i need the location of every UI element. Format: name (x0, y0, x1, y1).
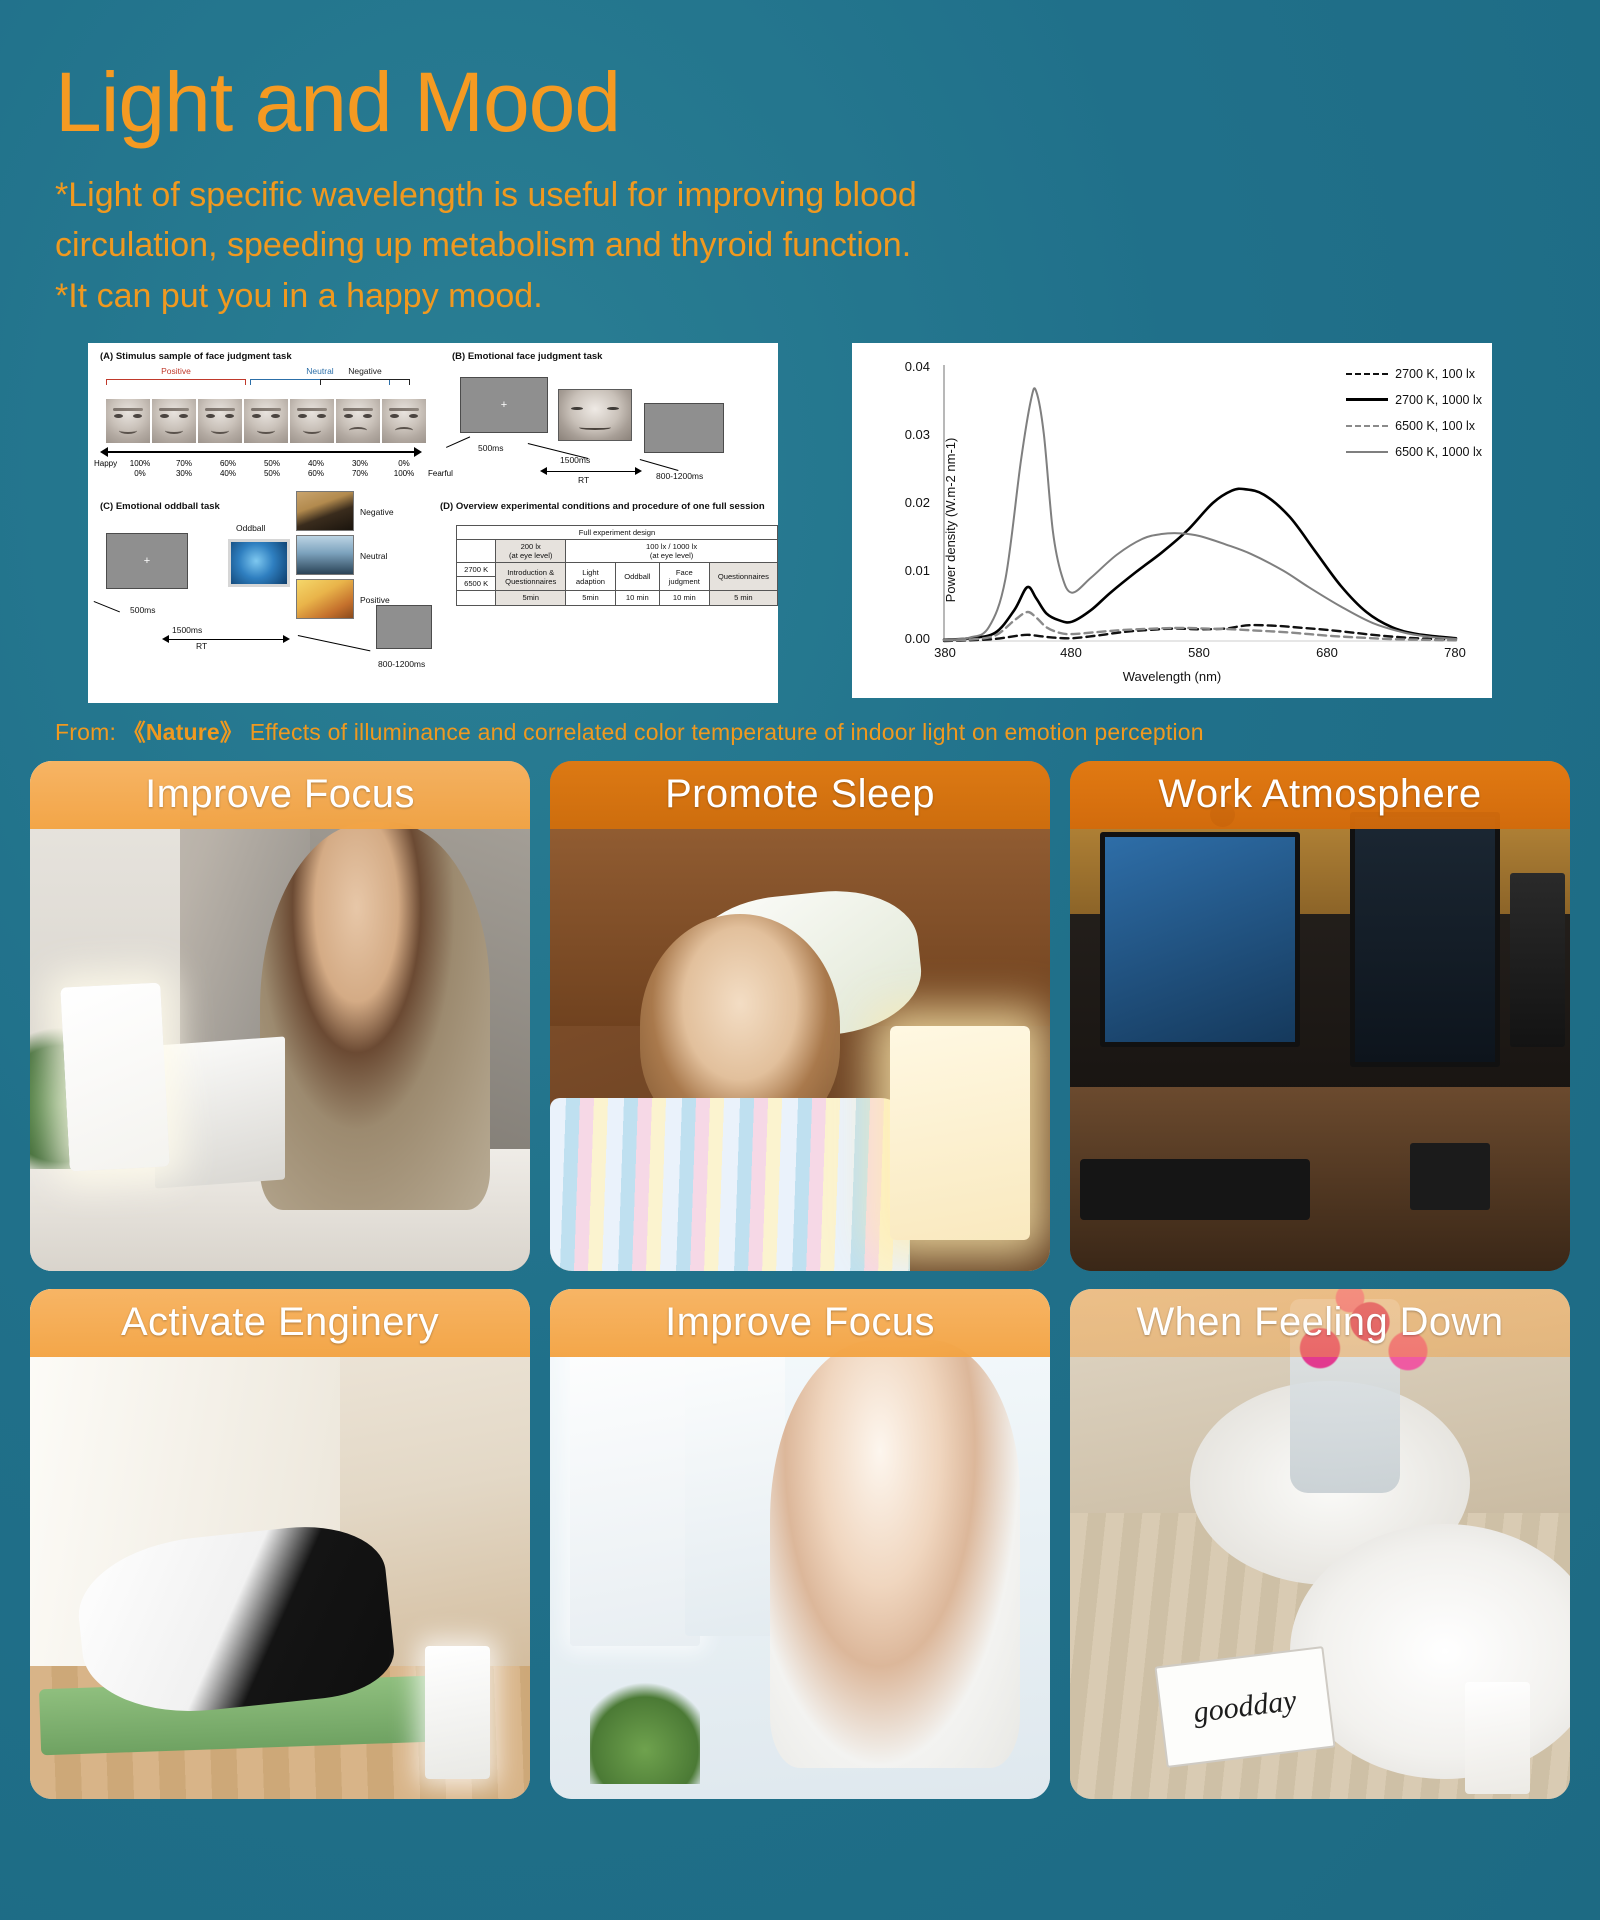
panel-c-timing-500ms: 500ms (130, 605, 156, 615)
panel-c-heading: (C) Emotional oddball task (100, 501, 220, 512)
legend-swatch-dashed-gray (1346, 425, 1388, 427)
card-photo: goodday (1070, 1289, 1570, 1799)
fearful-pct: 0% (118, 469, 162, 479)
card-promote-sleep[interactable]: Promote Sleep (550, 761, 1050, 1271)
card-photo (550, 761, 1050, 1271)
card-work-atmosphere[interactable]: Work Atmosphere (1070, 761, 1570, 1271)
face-stimulus (198, 399, 242, 443)
panel-b-timing-500ms: 500ms (478, 443, 504, 453)
card-photo (30, 761, 530, 1271)
subtitle-line-1: *Light of specific wavelength is useful … (55, 170, 1235, 220)
blank-response-box (644, 403, 724, 453)
legend-label: 6500 K, 1000 lx (1395, 445, 1482, 459)
connector-line (298, 635, 371, 652)
source-caption: From: 《Nature》 Effects of illuminance an… (0, 703, 1600, 747)
face-stimulus (152, 399, 196, 443)
panel-c-rt-arrow (162, 635, 290, 644)
panel-b-timing-800-1200ms: 800-1200ms (656, 471, 703, 481)
x-tick: 580 (1176, 645, 1222, 660)
duration-introduction: 5min (496, 591, 566, 605)
experiment-figure-panel: (A) Stimulus sample of face judgment tas… (88, 343, 778, 703)
panel-b-timing-1500ms: 1500ms (560, 455, 590, 465)
card-when-feeling-down[interactable]: goodday When Feeling Down (1070, 1289, 1570, 1799)
pct-cell: 60% 40% (206, 459, 250, 479)
fearful-pct: 40% (206, 469, 250, 479)
stage-light-adaption: Light adaption (566, 563, 616, 591)
panel-b-rt-arrow (540, 467, 642, 476)
face-stimulus-box (558, 389, 632, 441)
face-stimulus (290, 399, 334, 443)
card-title: Work Atmosphere (1070, 761, 1570, 829)
card-photo (550, 1289, 1050, 1799)
legend-item: 6500 K, 100 lx (1346, 413, 1482, 439)
cct-2700k: 2700 K (457, 563, 495, 577)
fixation-cross-box: + (106, 533, 188, 589)
pct-cell: 0% 100% (382, 459, 426, 479)
card-improve-focus-bathroom[interactable]: Improve Focus (550, 1289, 1050, 1799)
illuminance-200lx: 200 lx (at eye level) (496, 540, 566, 563)
face-stimulus (106, 399, 150, 443)
fearful-pct: 100% (382, 469, 426, 479)
happy-pct: 30% (338, 459, 382, 469)
panel-a-axis-label-happy: Happy (94, 459, 117, 468)
caption-text: Effects of illuminance and correlated co… (250, 719, 1204, 745)
page-header: Light and Mood *Light of specific wavele… (0, 0, 1600, 321)
table-row: 200 lx (at eye level) 100 lx / 1000 lx (… (457, 540, 778, 563)
face-stimulus (336, 399, 380, 443)
legend-swatch-solid-gray (1346, 451, 1388, 453)
duration-questionnaires: 5 min (709, 591, 777, 605)
table-title-cell: Full experiment design (457, 525, 778, 539)
card-improve-focus-office[interactable]: Improve Focus (30, 761, 530, 1271)
panel-c-label-positive: Positive (360, 595, 390, 605)
card-title: When Feeling Down (1070, 1289, 1570, 1357)
cct-6500k: 6500 K (457, 577, 495, 590)
card-title: Activate Enginery (30, 1289, 530, 1357)
legend-item: 6500 K, 1000 lx (1346, 439, 1482, 465)
face-stimulus (244, 399, 288, 443)
panel-a-axis-label-fearful: Fearful (428, 469, 453, 478)
image-positive (296, 579, 354, 619)
stage-introduction: Introduction & Questionnaires (496, 563, 566, 591)
fearful-pct: 30% (162, 469, 206, 479)
connector-line (93, 601, 119, 613)
illuminance-100-1000lx: 100 lx / 1000 lx (at eye level) (566, 540, 778, 563)
chart-legend: 2700 K, 100 lx 2700 K, 1000 lx 6500 K, 1… (1346, 361, 1482, 465)
card-activate-enginery[interactable]: Activate Enginery (30, 1289, 530, 1799)
connector-line (446, 436, 470, 448)
x-tick: 780 (1432, 645, 1478, 660)
empty-cell (457, 540, 496, 563)
panel-c-label-neutral: Neutral (360, 551, 387, 561)
x-tick: 480 (1048, 645, 1094, 660)
stage-oddball: Oddball (615, 563, 659, 591)
subtitle-line-3: *It can put you in a happy mood. (55, 271, 1235, 321)
legend-label: 6500 K, 100 lx (1395, 419, 1475, 433)
legend-swatch-dashed-black (1346, 373, 1388, 375)
table-row: Full experiment design (457, 525, 778, 539)
table-row: 5min 5min 10 min 10 min 5 min (457, 591, 778, 605)
card-title: Promote Sleep (550, 761, 1050, 829)
panel-b-rt-label: RT (578, 475, 589, 485)
fearful-pct: 70% (338, 469, 382, 479)
panel-d-heading: (D) Overview experimental conditions and… (440, 501, 765, 512)
spectral-chart: Power density (W.m-2 nm-1) 0.04 0.03 0.0… (852, 343, 1492, 698)
duration-light-adaption: 5min (566, 591, 616, 605)
panel-a-happy-pcts: 100% 0% 70% 30% 60% 40% 50% 50% 40% 60% … (118, 459, 426, 479)
empty-cell (457, 591, 496, 605)
duration-oddball: 10 min (615, 591, 659, 605)
panel-a-axis-arrow (100, 447, 422, 457)
face-stimulus (382, 399, 426, 443)
series-2700-k-1000-lx (944, 489, 1456, 640)
connector-line (640, 459, 679, 471)
legend-label: 2700 K, 100 lx (1395, 367, 1475, 381)
legend-item: 2700 K, 1000 lx (1346, 387, 1482, 413)
sign-text: goodday (1192, 1684, 1299, 1730)
pct-cell: 70% 30% (162, 459, 206, 479)
happy-pct: 50% (250, 459, 294, 469)
image-neutral (296, 535, 354, 575)
experiment-design-table: Full experiment design 200 lx (at eye le… (456, 525, 778, 606)
figure-row: (A) Stimulus sample of face judgment tas… (0, 343, 1600, 703)
page-title: Light and Mood (55, 60, 1600, 144)
panel-c-timing-1500ms: 1500ms (172, 625, 202, 635)
panel-c-label-negative: Negative (360, 507, 394, 517)
panel-b-heading: (B) Emotional face judgment task (452, 351, 602, 362)
spectral-power-chart-panel: Power density (W.m-2 nm-1) 0.04 0.03 0.0… (852, 343, 1492, 698)
chart-x-axis-label: Wavelength (nm) (852, 669, 1492, 684)
panel-a-face-strip (106, 399, 426, 443)
blank-response-box (376, 605, 432, 649)
image-negative (296, 491, 354, 531)
pct-cell: 100% 0% (118, 459, 162, 479)
stage-face-judgment: Face judgment (659, 563, 709, 591)
card-title: Improve Focus (550, 1289, 1050, 1357)
pct-cell: 30% 70% (338, 459, 382, 479)
page-subtitle: *Light of specific wavelength is useful … (55, 170, 1235, 321)
duration-face-judgment: 10 min (659, 591, 709, 605)
goodday-sign: goodday (1154, 1646, 1335, 1768)
caption-prefix: From: (55, 719, 116, 745)
panel-a-heading: (A) Stimulus sample of face judgment tas… (100, 351, 292, 362)
happy-pct: 70% (162, 459, 206, 469)
stage-questionnaires: Questionnaires (709, 563, 777, 591)
card-title: Improve Focus (30, 761, 530, 829)
card-photo (1070, 761, 1570, 1271)
table-row: 2700 K 6500 K Introduction & Questionnai… (457, 563, 778, 591)
oddball-image (228, 539, 290, 587)
happy-pct: 40% (294, 459, 338, 469)
caption-journal: 《Nature》 (123, 719, 243, 745)
pct-cell: 50% 50% (250, 459, 294, 479)
fixation-cross-box: + (460, 377, 548, 433)
x-tick: 680 (1304, 645, 1350, 660)
cct-cell: 2700 K 6500 K (457, 563, 496, 591)
happy-pct: 60% (206, 459, 250, 469)
pct-cell: 40% 60% (294, 459, 338, 479)
panel-a-group-positive: Positive (106, 377, 246, 389)
x-tick: 380 (922, 645, 968, 660)
legend-swatch-solid-black (1346, 398, 1388, 401)
legend-label: 2700 K, 1000 lx (1395, 393, 1482, 407)
legend-item: 2700 K, 100 lx (1346, 361, 1482, 387)
fearful-pct: 60% (294, 469, 338, 479)
benefit-card-grid: Improve Focus Promote Sleep Work Atmosph… (30, 761, 1570, 1799)
happy-pct: 100% (118, 459, 162, 469)
group-label-positive: Positive (106, 366, 246, 376)
panel-a-group-negative: Negative (320, 377, 410, 389)
card-photo (30, 1289, 530, 1799)
happy-pct: 0% (382, 459, 426, 469)
subtitle-line-2: circulation, speeding up metabolism and … (55, 220, 1235, 270)
panel-c-timing-800-1200ms: 800-1200ms (378, 659, 425, 669)
group-label-negative: Negative (320, 366, 410, 376)
fearful-pct: 50% (250, 469, 294, 479)
panel-d-table-wrap: Full experiment design 200 lx (at eye le… (456, 525, 778, 606)
panel-c-oddball-label: Oddball (236, 523, 265, 533)
